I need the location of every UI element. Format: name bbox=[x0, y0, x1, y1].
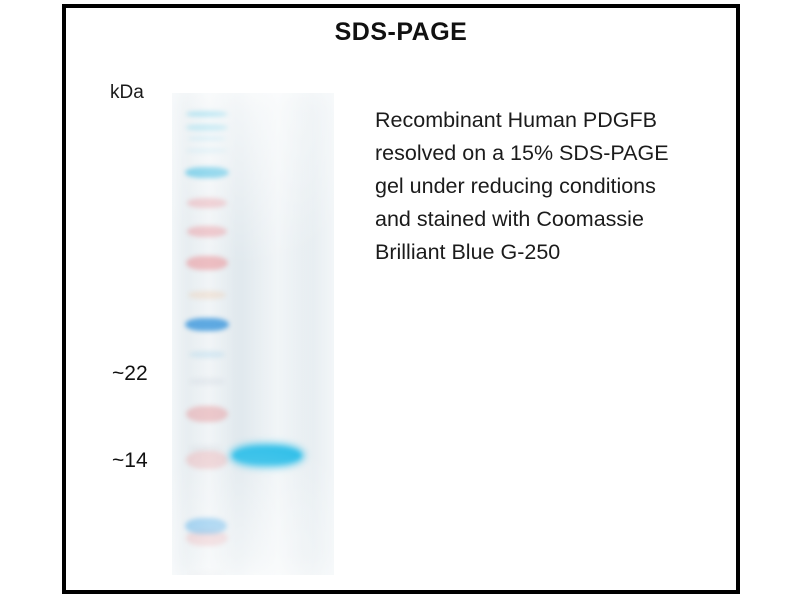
ladder-band-19 bbox=[185, 518, 227, 534]
ladder-band-5 bbox=[185, 167, 229, 178]
ladder-band-1 bbox=[186, 111, 228, 117]
mw-label-14: ~14 bbox=[112, 449, 148, 473]
kda-axis-label: kDa bbox=[110, 82, 144, 104]
ladder-band-2 bbox=[186, 124, 228, 131]
ladder-lane-streak bbox=[182, 93, 236, 575]
ladder-band-16 bbox=[189, 571, 225, 575]
ladder-band-18 bbox=[186, 451, 228, 469]
mw-label-22: ~22 bbox=[112, 362, 148, 386]
sds-page-gel-image bbox=[172, 93, 334, 575]
ladder-band-12 bbox=[189, 378, 225, 385]
ladder-band-6 bbox=[187, 198, 227, 208]
figure-border bbox=[62, 4, 740, 594]
figure-page: SDS-PAGE kDa ~22~14 Recombinant Human PD… bbox=[0, 0, 800, 600]
ladder-band-13 bbox=[186, 406, 228, 422]
ladder-band-10 bbox=[185, 318, 229, 331]
ladder-band-7 bbox=[187, 226, 227, 237]
ladder-band-8 bbox=[186, 256, 228, 270]
sample-lane-streak bbox=[242, 93, 314, 575]
figure-description: Recombinant Human PDGFB resolved on a 15… bbox=[375, 104, 675, 269]
ladder-band-9 bbox=[188, 291, 226, 299]
figure-title: SDS-PAGE bbox=[62, 18, 740, 47]
sample-band-pdgfb bbox=[233, 447, 301, 464]
ladder-band-4 bbox=[186, 148, 228, 153]
ladder-band-3 bbox=[188, 136, 226, 141]
ladder-band-11 bbox=[189, 351, 225, 358]
